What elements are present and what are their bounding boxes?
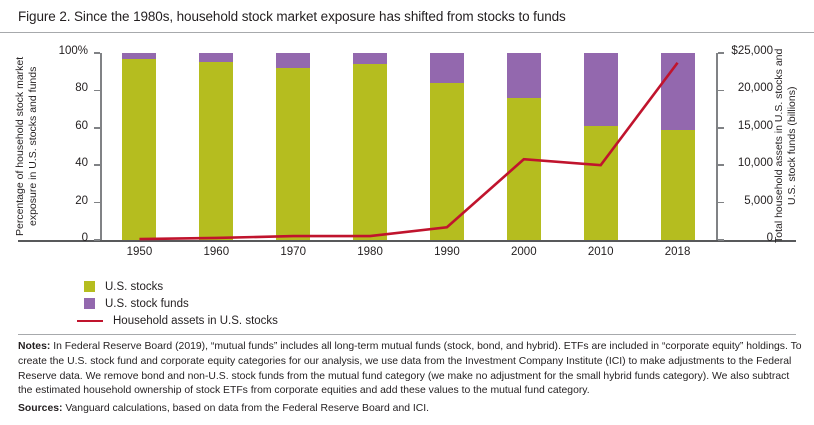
y-axis-right-tick-label: 15,000	[727, 120, 773, 132]
y-axis-left-tick-label: 60	[75, 120, 88, 132]
y-axis-right-tick	[718, 202, 724, 204]
legend-item[interactable]: Household assets in U.S. stocks	[84, 312, 278, 329]
legend-item-label: U.S. stock funds	[105, 298, 189, 310]
y-axis-left-tick-label: 0	[82, 232, 88, 244]
y-axis-right-tick-label: 5,000	[727, 195, 773, 207]
x-axis-tick-label: 1970	[258, 246, 328, 258]
x-axis-tick-label: 1960	[181, 246, 251, 258]
x-axis-line	[18, 240, 796, 242]
notes-block: Notes: In Federal Reserve Board (2019), …	[18, 340, 802, 420]
legend-item[interactable]: U.S. stock funds	[84, 295, 278, 312]
y-axis-right-title: Total household assets in U.S. stocks an…	[773, 44, 813, 248]
legend-item-label: Household assets in U.S. stocks	[113, 315, 278, 327]
legend-item[interactable]: U.S. stocks	[84, 278, 278, 295]
x-axis-tick-label: 2018	[643, 246, 713, 258]
x-axis-tick-label: 2010	[566, 246, 636, 258]
notes-text: In Federal Reserve Board (2019), “mutual…	[18, 341, 802, 396]
y-axis-left-tick	[94, 202, 100, 204]
y-axis-left-tick	[94, 127, 100, 129]
x-axis-tick-label: 2000	[489, 246, 559, 258]
y-axis-left-tick	[94, 239, 100, 241]
title-divider	[0, 32, 814, 33]
y-axis-left-tick-label: 20	[75, 195, 88, 207]
sources-paragraph: Sources: Vanguard calculations, based on…	[18, 402, 802, 417]
x-axis-tick-label: 1990	[412, 246, 482, 258]
chart-container: Percentage of household stock market exp…	[0, 38, 814, 330]
y-axis-right-tick-label: 20,000	[727, 82, 773, 94]
legend-line-icon	[77, 320, 103, 322]
y-axis-right-tick	[718, 52, 724, 54]
sources-text: Vanguard calculations, based on data fro…	[62, 403, 429, 414]
y-axis-right-tick	[718, 239, 724, 241]
y-axis-right-tick-label: 10,000	[727, 157, 773, 169]
y-axis-left-tick-label: 80	[75, 82, 88, 94]
x-axis-tick-label: 1980	[335, 246, 405, 258]
y-axis-right-tick	[718, 90, 724, 92]
y-axis-right-tick	[718, 164, 724, 166]
y-axis-left-tick-label: 40	[75, 157, 88, 169]
y-axis-left-tick-label: 100%	[59, 45, 88, 57]
y-axis-right-tick-label: 0	[727, 232, 773, 244]
legend-item-label: U.S. stocks	[105, 281, 163, 293]
y-axis-left-tick	[94, 52, 100, 54]
y-axis-right-tick	[718, 127, 724, 129]
y-axis-left-title: Percentage of household stock market exp…	[14, 46, 58, 246]
y-axis-right-line	[716, 53, 718, 241]
x-axis-tick-label: 1950	[104, 246, 174, 258]
y-axis-right-tick-label: $25,000	[727, 45, 773, 57]
household-assets-line	[101, 53, 716, 240]
plot-area	[101, 53, 716, 240]
sources-label: Sources:	[18, 403, 62, 414]
page-title: Figure 2. Since the 1980s, household sto…	[18, 9, 566, 24]
chart-legend: U.S. stocksU.S. stock fundsHousehold ass…	[84, 278, 278, 329]
notes-label: Notes:	[18, 341, 50, 352]
y-axis-left-tick	[94, 90, 100, 92]
y-axis-left-tick	[94, 164, 100, 166]
line-series-household-assets	[139, 63, 677, 239]
legend-swatch-icon	[84, 298, 95, 309]
notes-divider	[18, 334, 796, 335]
legend-swatch-icon	[84, 281, 95, 292]
notes-paragraph: Notes: In Federal Reserve Board (2019), …	[18, 340, 802, 399]
